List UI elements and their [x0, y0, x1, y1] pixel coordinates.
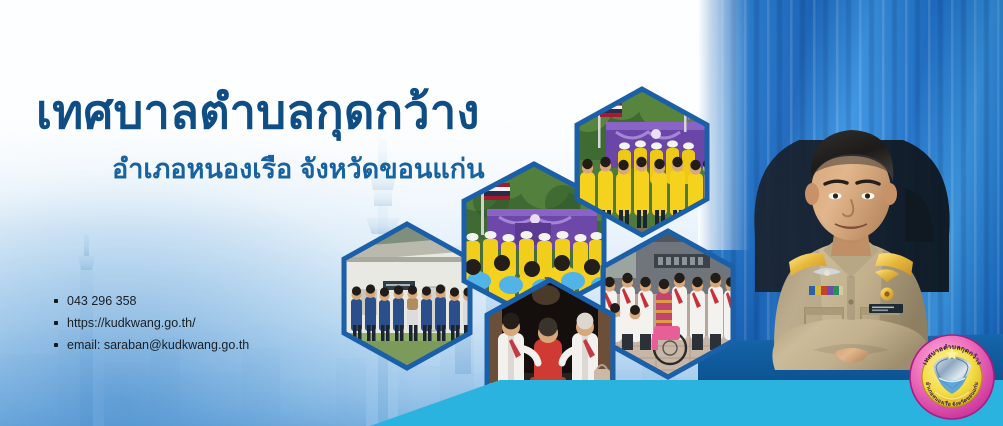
municipality-seal[interactable]: เทศบาลตำบลกุดกว้าง อำเภอหนองเรือ จังหวัด…: [909, 334, 995, 420]
bullet-icon: [54, 343, 58, 347]
hex-photo-building-officials-blue[interactable]: [339, 221, 475, 371]
hex-photo-collage: [0, 0, 1003, 426]
contact-email[interactable]: email: saraban@kudkwang.go.th: [54, 334, 249, 356]
page-title: เทศบาลตำบลกุดกว้าง: [36, 88, 480, 136]
contact-website-value: https://kudkwang.go.th/: [67, 312, 196, 334]
contact-website[interactable]: https://kudkwang.go.th/: [54, 312, 249, 334]
contact-list: 043 296 358 https://kudkwang.go.th/ emai…: [54, 290, 249, 356]
contact-email-value: email: saraban@kudkwang.go.th: [67, 334, 249, 356]
bullet-icon: [54, 299, 58, 303]
hex-photo-community-white-red[interactable]: [598, 228, 738, 380]
page-subtitle: อำเภอหนองเรือ จังหวัดขอนแก่น: [112, 155, 485, 183]
municipality-banner: เทศบาลตำบลกุดกว้าง อำเภอหนองเรือ จังหวัด…: [0, 0, 1003, 426]
bullet-icon: [54, 321, 58, 325]
hex-photo-ceremony-yellow-shirts[interactable]: [572, 86, 712, 238]
contact-phone[interactable]: 043 296 358: [54, 290, 249, 312]
contact-phone-value: 043 296 358: [67, 290, 137, 312]
